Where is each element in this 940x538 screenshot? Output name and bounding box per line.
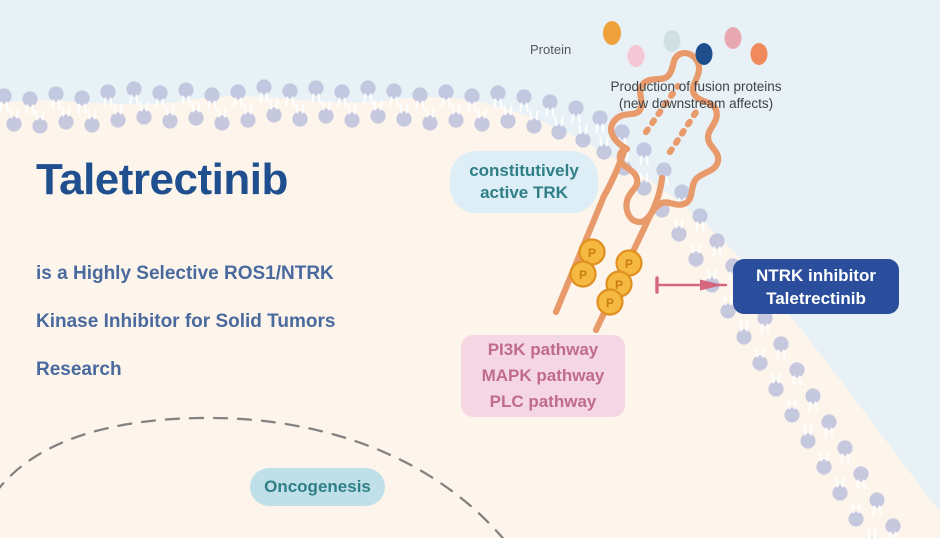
oncogenesis-label: Oncogenesis bbox=[264, 477, 371, 497]
subtitle-line-2: Kinase Inhibitor for Solid Tumors bbox=[36, 298, 436, 346]
subtitle-line-1: is a Highly Selective ROS1/NTRK bbox=[36, 250, 436, 298]
protein-dot-navy bbox=[696, 43, 713, 65]
protein-dot-lightblue bbox=[664, 30, 681, 52]
svg-text:P: P bbox=[588, 246, 596, 260]
callout-ntrk-inhibitor: NTRK inhibitor Taletrectinib bbox=[733, 259, 899, 314]
protein-dot-dustypink bbox=[725, 27, 742, 49]
phosphate-group: P bbox=[571, 262, 596, 287]
trk-callout-line-1: constitutively bbox=[469, 160, 579, 182]
protein-dot-pink bbox=[628, 45, 645, 67]
protein-dot-orange bbox=[603, 21, 621, 45]
protein-dot-salmon bbox=[751, 43, 768, 65]
protein-legend-label: Protein bbox=[530, 42, 571, 57]
pathway-line-mapk: MAPK pathway bbox=[482, 363, 605, 389]
page-title: Taletrectinib bbox=[36, 158, 288, 202]
inhibitor-line-2: Taletrectinib bbox=[766, 287, 866, 310]
svg-text:P: P bbox=[579, 268, 587, 282]
phosphate-group: P bbox=[598, 290, 623, 315]
inhibitor-line-1: NTRK inhibitor bbox=[756, 264, 876, 287]
callout-downstream-pathways: PI3K pathway MAPK pathway PLC pathway bbox=[461, 335, 625, 417]
pathway-line-pi3k: PI3K pathway bbox=[488, 337, 599, 363]
subtitle-line-3: Research bbox=[36, 346, 436, 394]
subtitle-block: is a Highly Selective ROS1/NTRK Kinase I… bbox=[36, 250, 436, 394]
callout-constitutively-active-trk: constitutively active TRK bbox=[450, 151, 598, 213]
trk-callout-line-2: active TRK bbox=[480, 182, 568, 204]
fusion-caption-line-2: (new downstream affects) bbox=[586, 95, 806, 112]
svg-text:P: P bbox=[625, 257, 633, 271]
svg-text:P: P bbox=[606, 296, 614, 310]
callout-oncogenesis: Oncogenesis bbox=[250, 468, 385, 506]
fusion-protein-caption: Production of fusion proteins (new downs… bbox=[586, 78, 806, 112]
fusion-caption-line-1: Production of fusion proteins bbox=[586, 78, 806, 95]
pathway-line-plc: PLC pathway bbox=[490, 389, 597, 415]
illustration-canvas: P P P P P bbox=[0, 0, 940, 538]
